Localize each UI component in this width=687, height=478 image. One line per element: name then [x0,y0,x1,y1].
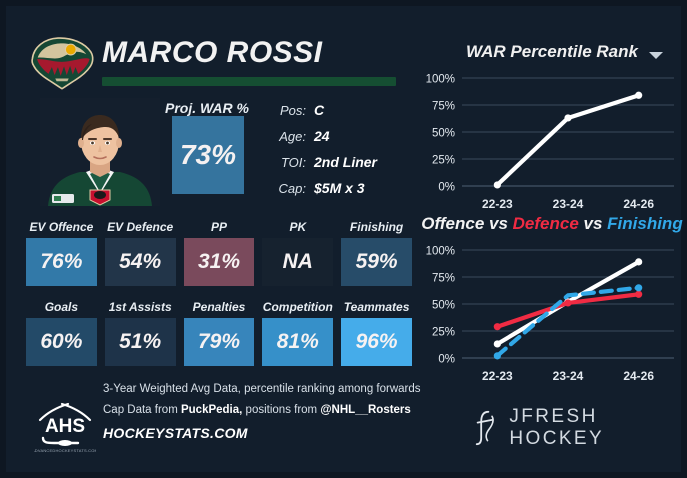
stat-box: 96% [341,318,412,366]
bio-row-pos: Pos: C [254,102,404,118]
data-point [635,291,642,298]
stat-cell-pp: PP 31% [184,220,255,286]
data-point [635,258,642,265]
bio-row-cap: Cap: $5M x 3 [254,180,404,196]
legend-offence: Offence [421,214,484,233]
y-axis-tick-label: 50% [432,128,455,140]
y-axis-tick-label: 50% [432,300,455,312]
proj-war-value: 73% [180,139,236,171]
stat-box: 60% [26,318,97,366]
x-axis-tick-label: 23-24 [553,369,584,383]
stat-box: 59% [341,238,412,286]
footer-site: HOCKEYSTATS.COM [103,425,423,441]
stat-cell-pk: PK NA [262,220,333,286]
stat-label: Penalties [184,300,255,314]
stat-value: 31% [198,250,240,274]
stat-box: 31% [184,238,255,286]
proj-war-label: Proj. WAR % [162,100,252,116]
stat-box: 51% [105,318,176,366]
player-bio: Pos: C Age: 24 TOI: 2nd Liner Cap: $5M x… [254,102,404,206]
data-point [494,323,501,330]
chart-title-war: WAR Percentile Rank [416,42,687,62]
stat-label: EV Defence [105,220,176,234]
y-axis-tick-label: 75% [432,273,455,285]
player-card: MARCO ROSSI [0,0,687,478]
data-point [494,181,501,188]
legend-defence: Defence [513,214,579,233]
stat-value: 51% [119,330,161,354]
stat-value: 76% [40,250,82,274]
stat-label: 1st Assists [105,300,176,314]
bio-key-age: Age: [254,129,314,144]
stat-row-secondary: Goals 60% 1st Assists 51% Penalties 79% … [26,300,412,366]
bio-value-pos: C [314,102,324,118]
stat-label: PP [184,220,255,234]
footer-cap-mid: positions from [242,404,320,416]
x-axis-tick-label: 23-24 [553,197,584,211]
player-headshot [40,98,160,206]
bio-value-cap: $5M x 3 [314,180,365,196]
bio-row-toi: TOI: 2nd Liner [254,154,404,170]
y-axis-tick-label: 0% [438,182,455,194]
footer-nhl-rosters: @NHL__Rosters [320,404,410,416]
data-point [635,284,642,291]
y-axis-tick-label: 75% [432,101,455,113]
stat-row-primary: EV Offence 76% EV Defence 54% PP 31% PK … [26,220,412,286]
jfresh-text: JFRESH HOCKEY [509,406,681,450]
stat-value: 81% [277,330,319,354]
stat-value: NA [283,250,313,274]
minnesota-wild-logo [28,32,96,90]
stat-cell-first-assists: 1st Assists 51% [105,300,176,366]
bio-row-age: Age: 24 [254,128,404,144]
bio-key-toi: TOI: [254,155,314,170]
footer-cap-pre: Cap Data from [103,404,181,416]
stat-cell-penalties: Penalties 79% [184,300,255,366]
stat-label: Goals [26,300,97,314]
chart-title-odf: Offence vs Defence vs Finishing [416,214,687,234]
stat-label: EV Offence [26,220,97,234]
data-point [564,299,571,306]
stat-cell-ev-offence: EV Offence 76% [26,220,97,286]
stat-value: 79% [198,330,240,354]
bio-value-toi: 2nd Liner [314,154,377,170]
stat-label: Finishing [341,220,412,234]
stat-label: Teammates [341,300,412,314]
data-point [494,340,501,347]
stat-cell-finishing: Finishing 59% [341,220,412,286]
y-axis-tick-label: 100% [426,246,455,258]
data-point [564,114,571,121]
footer-text: 3-Year Weighted Avg Data, percentile ran… [103,382,423,441]
stat-cell-goals: Goals 60% [26,300,97,366]
stat-box: 81% [262,318,333,366]
proj-war-box: 73% [172,116,244,194]
y-axis-tick-label: 25% [432,327,455,339]
bio-key-pos: Pos: [254,103,314,118]
stat-cell-ev-defence: EV Defence 54% [105,220,176,286]
ahs-logo: AHS ADVANCEDHOCKEYSTATS.COM [34,398,96,454]
y-axis-tick-label: 0% [438,354,455,366]
jfresh-brand: JFRESH HOCKEY [474,406,681,450]
jfresh-logo [474,406,497,450]
y-axis-tick-label: 25% [432,155,455,167]
title-sep-2: vs [579,214,607,233]
stat-cell-competition: Competition 81% [262,300,333,366]
footer-puckpedia: PuckPedia, [181,404,242,416]
stat-value: 54% [119,250,161,274]
stat-label: PK [262,220,333,234]
footer-line-1: 3-Year Weighted Avg Data, percentile ran… [103,382,423,397]
stat-box: 54% [105,238,176,286]
stat-label: Competition [262,300,333,314]
series-line-war percentile [497,95,638,185]
data-point [635,92,642,99]
svg-text:ADVANCEDHOCKEYSTATS.COM: ADVANCEDHOCKEYSTATS.COM [34,448,96,453]
page-title: MARCO ROSSI [102,36,323,70]
stat-value: 96% [356,330,398,354]
data-point [494,352,501,359]
x-axis-tick-label: 22-23 [482,369,513,383]
x-axis-tick-label: 24-26 [623,197,654,211]
svg-text:AHS: AHS [45,416,85,437]
chart-offence-defence-finishing: 0%25%50%75%100%22-2323-2424-26 [416,240,687,390]
bio-value-age: 24 [314,128,330,144]
stat-box: 76% [26,238,97,286]
bio-key-cap: Cap: [254,181,314,196]
x-axis-tick-label: 24-26 [623,369,654,383]
x-axis-tick-label: 22-23 [482,197,513,211]
stat-value: 60% [40,330,82,354]
stat-box: 79% [184,318,255,366]
footer-line-2: Cap Data from PuckPedia, positions from … [103,403,423,418]
stat-box: NA [262,238,333,286]
stat-cell-teammates: Teammates 96% [341,300,412,366]
stat-value: 59% [356,250,398,274]
y-axis-tick-label: 100% [426,74,455,86]
chart-war-percentile-rank: 0%25%50%75%100%22-2323-2424-26 [416,68,687,218]
title-sep-1: vs [484,214,512,233]
legend-finishing: Finishing [607,214,683,233]
team-color-bar [102,77,396,86]
